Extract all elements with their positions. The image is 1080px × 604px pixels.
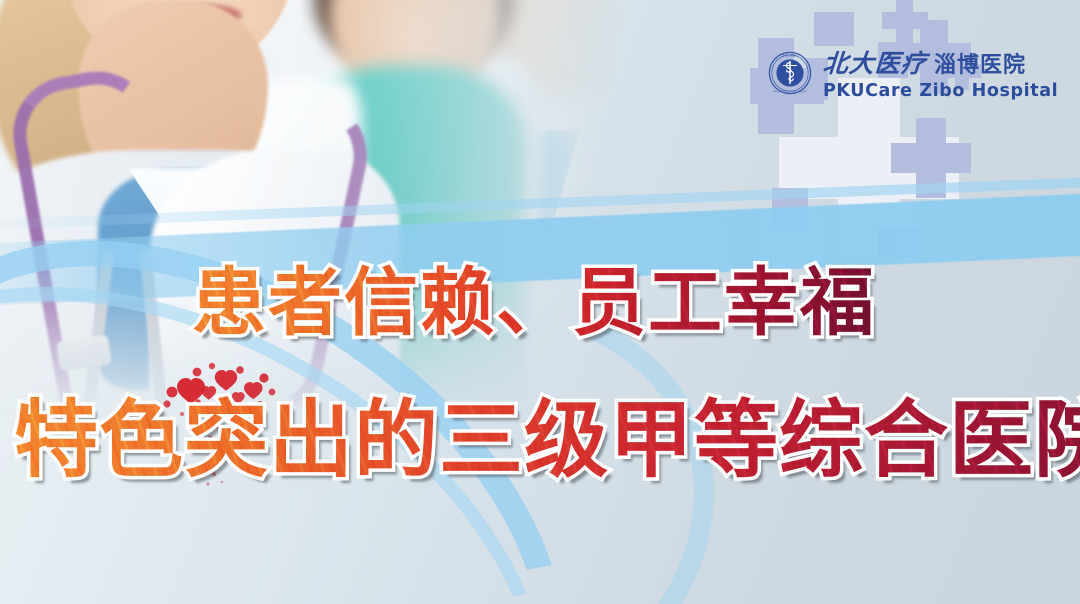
cross-small-1 — [896, 0, 913, 44]
caduceus-emblem-icon: 北京大学医疗 PKU HEALTHCARE GROUP — [768, 51, 812, 95]
svg-text:PKU HEALTHCARE GROUP: PKU HEALTHCARE GROUP — [773, 89, 807, 93]
svg-text:北京大学医疗: 北京大学医疗 — [782, 53, 798, 57]
logo-text-block: 北大医疗 淄博医院 PKUCare Zibo Hospital — [823, 44, 1058, 101]
banner-canvas: 北京大学医疗 PKU HEALTHCARE GROUP 北大医疗 淄博医院 PK… — [0, 0, 1080, 604]
headline-line-1-text: 患者信赖、员工幸福 — [192, 260, 876, 346]
logo-name-en: PKUCare Zibo Hospital — [823, 81, 1058, 101]
headline-line-2-text: 特色突出的三级甲等综合医院 — [14, 391, 1080, 489]
hospital-logo[interactable]: 北京大学医疗 PKU HEALTHCARE GROUP 北大医疗 淄博医院 PK… — [768, 44, 1058, 101]
logo-branch-cn: 淄博医院 — [934, 47, 1026, 79]
headline-line-2-stack: 特色突出的三级甲等综合医院 特色突出的三级甲等综合医院 特色突出的三级甲等综合医… — [14, 373, 1080, 494]
logo-chinese-line: 北大医疗 淄博医院 — [823, 44, 1058, 80]
logo-brand-cn: 北大医疗 — [822, 44, 929, 80]
headline-line-1-stack: 患者信赖、员工幸福 患者信赖、员工幸福 患者信赖、员工幸福 患者信赖、员工幸福 — [192, 243, 876, 350]
cross-square-1 — [814, 12, 854, 46]
